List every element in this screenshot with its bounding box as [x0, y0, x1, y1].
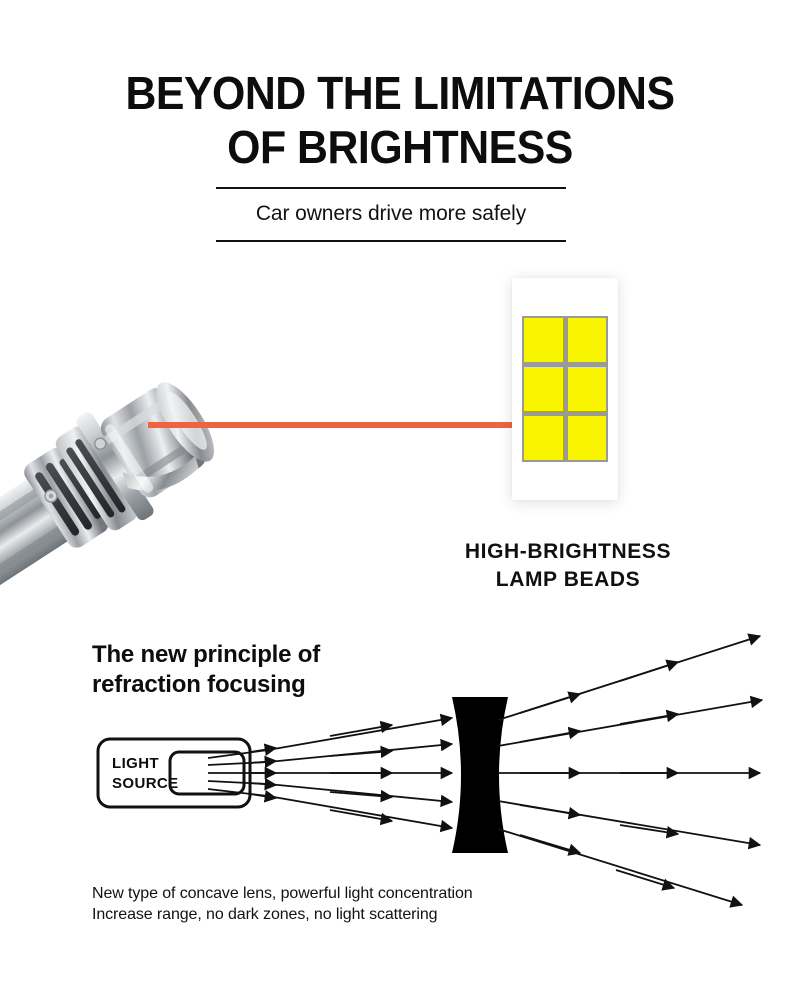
light-source-label-line-1: LIGHT	[112, 755, 159, 772]
source-ray-arrows	[250, 748, 276, 798]
page-title: BEYOND THE LIMITATIONS OF BRIGHTNESS	[0, 66, 800, 174]
lamp-bead	[524, 318, 563, 362]
incident-ray-midmarkers	[330, 725, 392, 821]
subtitle-rule-bottom	[216, 240, 566, 242]
led-headlight-bulb-image	[0, 300, 258, 600]
diagram-caption-line-1: New type of concave lens, powerful light…	[92, 883, 652, 904]
refracted-ray-midmarkers	[520, 662, 678, 888]
diagram-caption-line-2: Increase range, no dark zones, no light …	[92, 904, 652, 925]
lamp-bead-caption-line-2: LAMP BEADS	[408, 566, 728, 594]
subtitle-text: Car owners drive more safely	[216, 189, 566, 240]
headline-line-1: BEYOND THE LIMITATIONS	[28, 66, 772, 120]
diagram-caption: New type of concave lens, powerful light…	[92, 883, 652, 925]
headline-line-2: OF BRIGHTNESS	[28, 120, 772, 174]
lamp-bead	[524, 416, 563, 460]
lamp-bead	[568, 416, 607, 460]
lamp-bead	[568, 318, 607, 362]
lamp-bead-grid	[522, 316, 608, 462]
lamp-bead	[568, 367, 607, 411]
pointer-line	[148, 422, 520, 428]
lamp-bead-caption: HIGH-BRIGHTNESS LAMP BEADS	[408, 538, 728, 594]
refracted-rays	[498, 636, 762, 905]
lamp-bead-caption-line-1: HIGH-BRIGHTNESS	[408, 538, 728, 566]
lamp-bead-module-card	[512, 278, 618, 500]
light-source-label-line-2: SOURCE	[112, 775, 179, 792]
product-infographic-page: BEYOND THE LIMITATIONS OF BRIGHTNESS Car…	[0, 0, 800, 998]
refraction-diagram: LIGHT SOURCE	[0, 600, 800, 930]
subtitle-block: Car owners drive more safely	[216, 187, 566, 242]
lamp-bead	[524, 367, 563, 411]
